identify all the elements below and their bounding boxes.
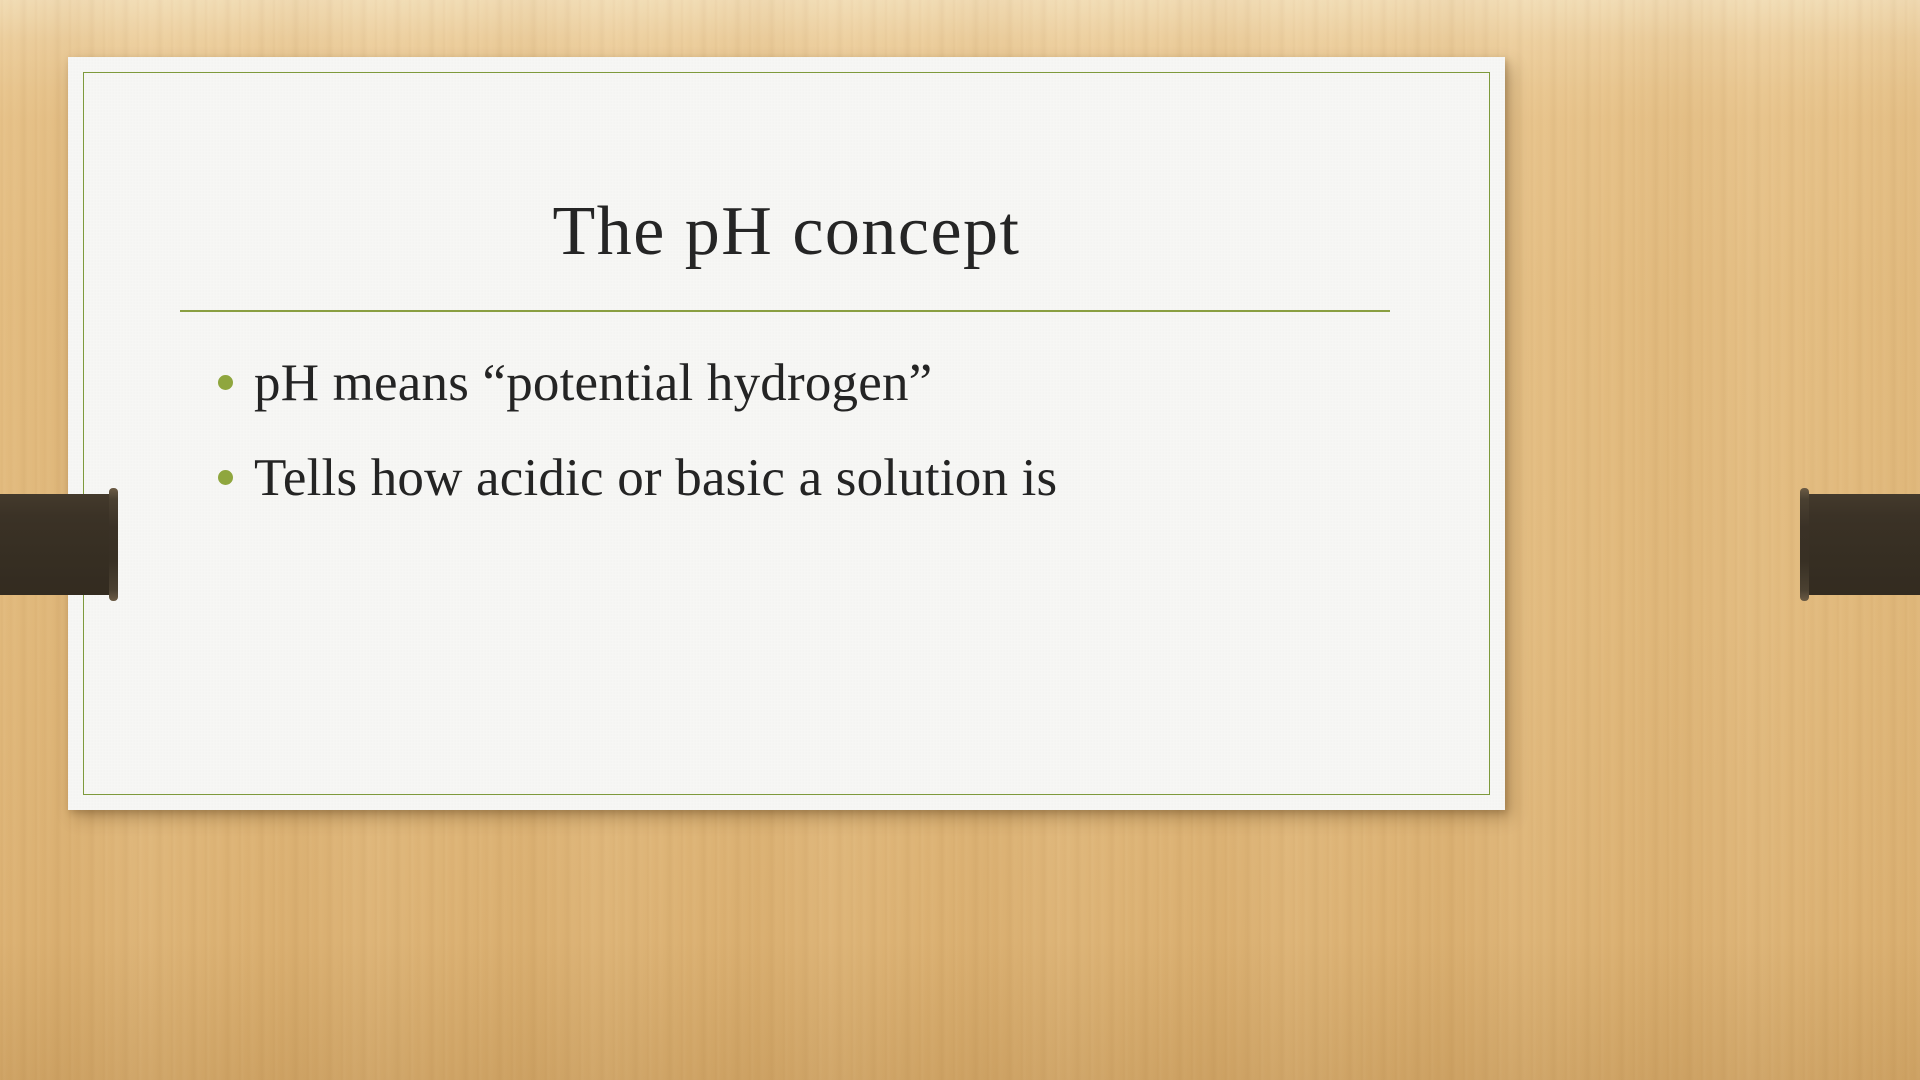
list-item-label: pH means “potential hydrogen” <box>254 354 932 412</box>
slide-stage: The pH concept pH means “potential hydro… <box>0 0 1920 1080</box>
slide-card: The pH concept pH means “potential hydro… <box>68 57 1505 810</box>
bullet-dot-icon <box>218 375 233 390</box>
bullet-list: pH means “potential hydrogen” Tells how … <box>218 349 1398 539</box>
left-ribbon-cap <box>109 488 118 601</box>
bullet-dot-icon <box>218 470 233 485</box>
left-ribbon-band <box>0 494 118 595</box>
right-ribbon-cap <box>1800 488 1809 601</box>
page-title: The pH concept <box>68 195 1505 269</box>
list-item: pH means “potential hydrogen” <box>218 349 1398 418</box>
right-ribbon-band <box>1800 494 1920 595</box>
list-item: Tells how acidic or basic a solution is <box>218 444 1398 513</box>
title-divider-rule <box>180 310 1390 312</box>
list-item-label: Tells how acidic or basic a solution is <box>254 449 1057 507</box>
